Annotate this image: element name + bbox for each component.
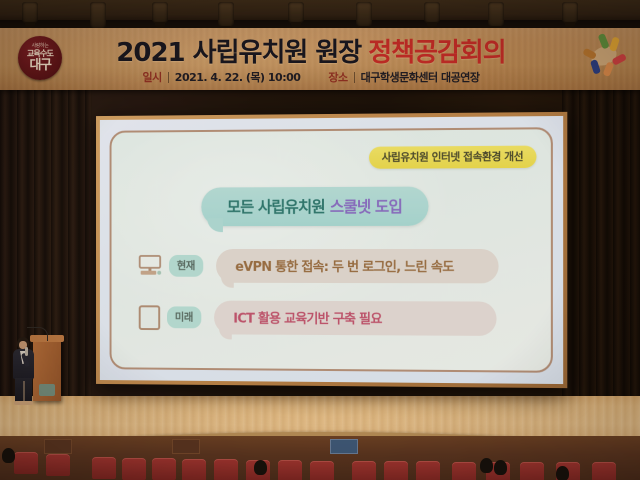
wall-panel (44, 439, 72, 454)
banner-date-label: 일시 (143, 69, 162, 85)
presenter-shoes (14, 401, 33, 405)
auditorium-seat-row (278, 460, 302, 480)
banner-title-red: 정책공감회의 (368, 32, 506, 69)
row-bubble-current: eVPN 통한 접속: 두 번 로그인, 느린 속도 (216, 249, 499, 283)
wall-panel (330, 439, 358, 454)
auditorium-seat-row (214, 459, 238, 480)
auditorium-seat-row (92, 457, 116, 479)
stage-light-icon (22, 2, 38, 24)
audience-member (494, 460, 507, 475)
stage-light-icon (424, 2, 440, 24)
podium-emblem (39, 384, 55, 396)
handheld-microphone-icon (25, 347, 28, 356)
wooden-podium (33, 339, 61, 401)
headline-part-a: 모든 사립유치원 (227, 198, 325, 216)
seal-mid-text: 교육수도 (27, 50, 53, 58)
audience-member (556, 466, 569, 480)
auditorium-seat-row (182, 459, 206, 480)
auditorium-seat-row (592, 462, 616, 480)
slide-headline-bubble: 모든 사립유치원 스쿨넷 도입 (201, 187, 428, 227)
auditorium-seat-row (122, 458, 146, 480)
auditorium-seat-row (416, 461, 440, 480)
slide-topic-badge: 사립유치원 인터넷 접속환경 개선 (369, 146, 537, 169)
audience-member (2, 448, 15, 463)
row-bubble-future: ICT 활용 교육기반 구축 필요 (214, 301, 496, 336)
banner-subtitle: 일시 2021. 4. 22. (목) 10:00 장소 대구학생문화센터 대공… (72, 68, 550, 86)
podium-microphone (27, 327, 48, 341)
stage-light-icon (356, 2, 372, 28)
banner-title-dark: 2021 사립유치원 원장 (116, 32, 361, 69)
seal-big-text: 대구 (30, 59, 51, 72)
auditorium-seating (0, 436, 640, 480)
stage-light-icon (488, 2, 504, 28)
stage-light-icon (562, 2, 578, 24)
auditorium-seat-row (152, 458, 176, 480)
desktop-monitor-icon (139, 255, 162, 277)
audience-member (254, 460, 267, 475)
stage-light-icon (152, 2, 168, 24)
banner-title: 2021 사립유치원 원장 정책공감회의 (72, 33, 550, 67)
divider (168, 72, 169, 83)
headline-part-b: 스쿨넷 도입 (330, 198, 402, 216)
seal-top-text: 사랑하는 (32, 44, 49, 49)
divider (354, 72, 355, 83)
auditorium-seat-row (46, 454, 70, 476)
auditorium-seat-row (14, 452, 38, 474)
row-text-future: ICT 활용 교육기반 구축 필요 (233, 312, 381, 328)
row-tag-future: 미래 (167, 306, 201, 328)
event-banner: 사랑하는 교육수도 대구 2021 사립유치원 원장 정책공감회의 일시 202… (0, 28, 640, 90)
presentation-slide: 사립유치원 인터넷 접속환경 개선 모든 사립유치원 스쿨넷 도입 현재 (110, 127, 553, 373)
banner-place-label: 장소 (328, 69, 347, 85)
stage-light-icon (90, 2, 106, 30)
stage-light-icon (288, 2, 304, 24)
auditorium-seat-row (520, 462, 544, 480)
row-tag-current: 현재 (169, 255, 203, 277)
row-text-current: eVPN 통한 접속: 두 번 로그인, 느린 속도 (235, 260, 453, 275)
tablet-icon (139, 305, 160, 330)
auditorium-stage-photo: 사랑하는 교육수도 대구 2021 사립유치원 원장 정책공감회의 일시 202… (0, 0, 640, 480)
auditorium-seat-row (452, 462, 476, 480)
audience-member (480, 458, 493, 473)
banner-date-value: 2021. 4. 22. (목) 10:00 (175, 69, 301, 85)
slide-row-future: 미래 ICT 활용 교육기반 구축 필요 (139, 300, 496, 336)
auditorium-seat-row (310, 461, 334, 480)
slide-row-current: 현재 eVPN 통한 접속: 두 번 로그인, 느린 속도 (139, 249, 498, 283)
projection-screen-surface: 사립유치원 인터넷 접속환경 개선 모든 사립유치원 스쿨넷 도입 현재 (100, 116, 563, 384)
projection-screen-frame: 사립유치원 인터넷 접속환경 개선 모든 사립유치원 스쿨넷 도입 현재 (96, 112, 567, 388)
auditorium-seat-row (352, 461, 376, 480)
stage-light-icon (218, 2, 234, 28)
banner-place-value: 대구학생문화센터 대공연장 (361, 69, 480, 85)
daegu-education-seal-logo: 사랑하는 교육수도 대구 (18, 36, 62, 80)
wall-panel (172, 439, 200, 454)
auditorium-seat-row (384, 461, 408, 480)
presenter-leg-gap (23, 381, 25, 401)
pinwheel-logo (578, 32, 630, 82)
